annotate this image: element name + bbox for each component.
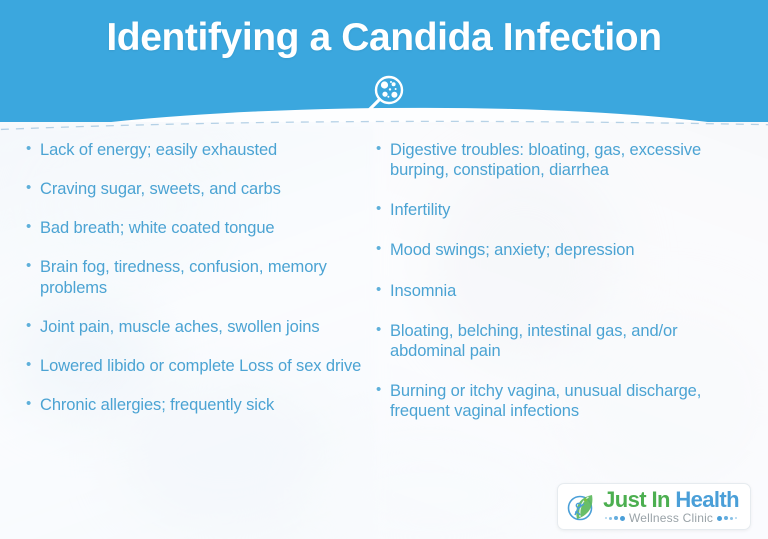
- symptom-column-right: Digestive troubles: bloating, gas, exces…: [368, 140, 768, 500]
- logo-name-part2: Health: [675, 487, 739, 512]
- list-item: Burning or itchy vagina, unusual dischar…: [376, 381, 752, 421]
- list-item: Joint pain, muscle aches, swollen joins: [26, 317, 362, 337]
- list-item: Lack of energy; easily exhausted: [26, 140, 362, 160]
- logo-dots-left: [605, 516, 625, 521]
- list-item: Infertility: [376, 200, 752, 220]
- brand-logo[interactable]: Just In Health Wellness Clinic: [557, 483, 751, 530]
- list-item: Bad breath; white coated tongue: [26, 218, 362, 238]
- logo-name-part1: Just In: [603, 487, 675, 512]
- list-item: Bloating, belching, intestinal gas, and/…: [376, 321, 752, 361]
- list-item: Lowered libido or complete Loss of sex d…: [26, 356, 362, 376]
- symptom-list-right: Digestive troubles: bloating, gas, exces…: [376, 140, 752, 421]
- list-item: Chronic allergies; frequently sick: [26, 395, 362, 415]
- logo-name: Just In Health: [603, 489, 739, 511]
- infographic-poster: Identifying a Candida Infection: [0, 0, 768, 539]
- symptom-column-left: Lack of energy; easily exhausted Craving…: [0, 140, 368, 500]
- list-item: Digestive troubles: bloating, gas, exces…: [376, 140, 752, 180]
- list-item: Brain fog, tiredness, confusion, memory …: [26, 257, 362, 297]
- logo-text-block: Just In Health Wellness Clinic: [603, 489, 739, 524]
- logo-tagline-row: Wellness Clinic: [603, 512, 739, 524]
- logo-dots-right: [717, 516, 737, 521]
- page-title: Identifying a Candida Infection: [0, 16, 768, 60]
- list-item: Insomnia: [376, 281, 752, 301]
- logo-tagline: Wellness Clinic: [629, 512, 713, 524]
- symptom-list-left: Lack of energy; easily exhausted Craving…: [26, 140, 362, 415]
- header-band: Identifying a Candida Infection: [0, 0, 768, 122]
- symptom-columns: Lack of energy; easily exhausted Craving…: [0, 140, 768, 500]
- list-item: Mood swings; anxiety; depression: [376, 240, 752, 260]
- list-item: Craving sugar, sweets, and carbs: [26, 179, 362, 199]
- leaf-circle-logo-icon: [566, 491, 598, 523]
